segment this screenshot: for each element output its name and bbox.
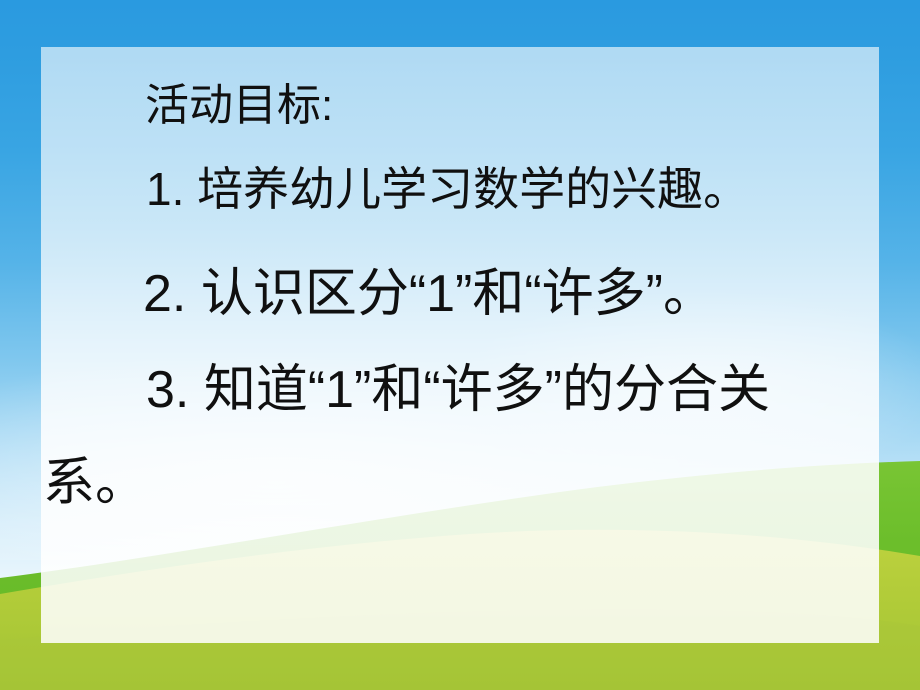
slide-heading: 活动目标: — [145, 69, 333, 133]
slide-canvas: 活动目标: 1. 培养幼儿学习数学的兴趣。 2. 认识区分“1”和“许多”。 3… — [0, 0, 920, 690]
objective-item-2: 2. 认识区分“1”和“许多”。 — [143, 251, 715, 326]
objective-item-3-wrap: 系。 — [43, 440, 147, 515]
objective-item-1: 1. 培养幼儿学习数学的兴趣。 — [146, 153, 749, 219]
slide-text-block: 活动目标: 1. 培养幼儿学习数学的兴趣。 2. 认识区分“1”和“许多”。 3… — [41, 47, 879, 643]
objective-item-3: 3. 知道“1”和“许多”的分合关 — [146, 347, 770, 422]
